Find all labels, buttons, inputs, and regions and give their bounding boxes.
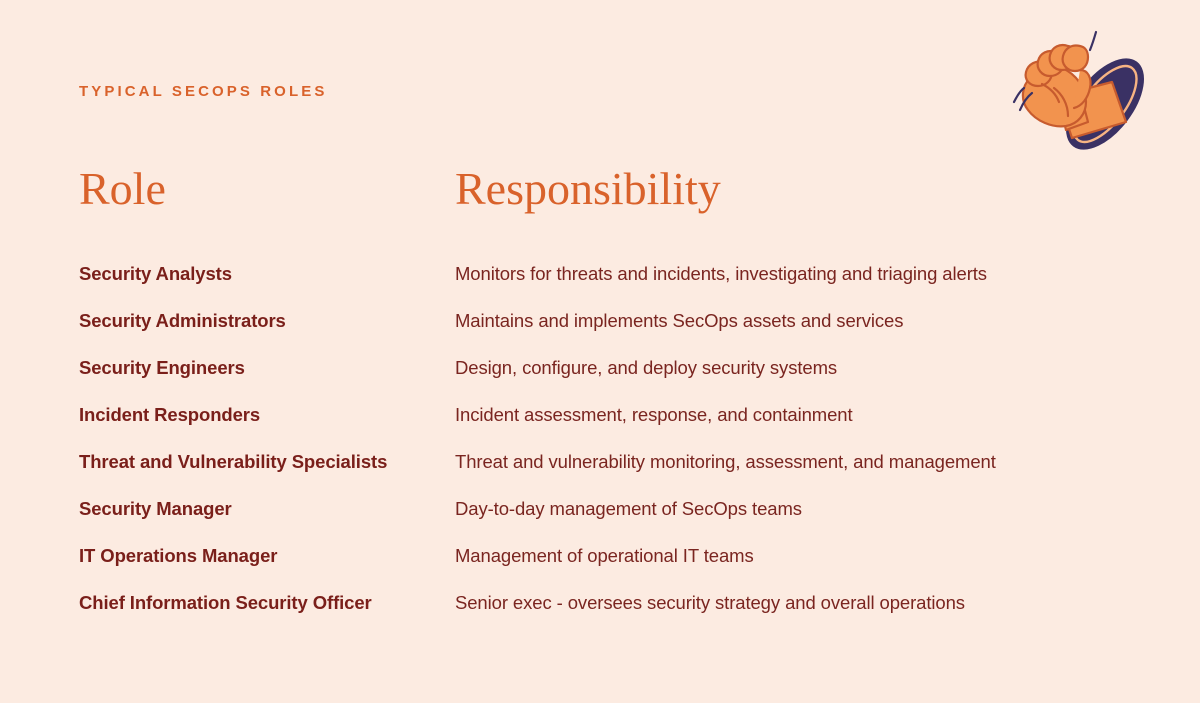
slide-canvas: TYPICAL SECOPS ROLES Role Responsibility… bbox=[0, 0, 1200, 703]
cell-role: Security Analysts bbox=[79, 263, 455, 285]
cell-responsibility: Senior exec - oversees security strategy… bbox=[455, 592, 1139, 614]
roles-table: Security Analysts Monitors for threats a… bbox=[79, 263, 1139, 639]
cell-role: Chief Information Security Officer bbox=[79, 592, 455, 614]
table-row: Security Administrators Maintains and im… bbox=[79, 310, 1139, 357]
table-row: Threat and Vulnerability Specialists Thr… bbox=[79, 451, 1139, 498]
column-header-responsibility: Responsibility bbox=[455, 166, 721, 212]
table-row: Incident Responders Incident assessment,… bbox=[79, 404, 1139, 451]
slide-eyebrow: TYPICAL SECOPS ROLES bbox=[79, 83, 327, 100]
cell-role: Security Engineers bbox=[79, 357, 455, 379]
cell-responsibility: Threat and vulnerability monitoring, ass… bbox=[455, 451, 1139, 473]
cell-role: Security Administrators bbox=[79, 310, 455, 332]
cell-responsibility: Day-to-day management of SecOps teams bbox=[455, 498, 1139, 520]
cell-responsibility: Design, configure, and deploy security s… bbox=[455, 357, 1139, 379]
column-headers: Role Responsibility bbox=[79, 166, 1119, 224]
cell-responsibility: Management of operational IT teams bbox=[455, 545, 1139, 567]
cell-role: Threat and Vulnerability Specialists bbox=[79, 451, 455, 473]
cell-responsibility: Monitors for threats and incidents, inve… bbox=[455, 263, 1139, 285]
table-row: IT Operations Manager Management of oper… bbox=[79, 545, 1139, 592]
table-row: Security Engineers Design, configure, an… bbox=[79, 357, 1139, 404]
table-row: Security Analysts Monitors for threats a… bbox=[79, 263, 1139, 310]
column-header-role: Role bbox=[79, 166, 166, 212]
table-row: Chief Information Security Officer Senio… bbox=[79, 592, 1139, 639]
cell-role: IT Operations Manager bbox=[79, 545, 455, 567]
waving-hand-illustration bbox=[1000, 18, 1170, 173]
cell-responsibility: Maintains and implements SecOps assets a… bbox=[455, 310, 1139, 332]
cell-role: Incident Responders bbox=[79, 404, 455, 426]
table-row: Security Manager Day-to-day management o… bbox=[79, 498, 1139, 545]
cell-role: Security Manager bbox=[79, 498, 455, 520]
cell-responsibility: Incident assessment, response, and conta… bbox=[455, 404, 1139, 426]
